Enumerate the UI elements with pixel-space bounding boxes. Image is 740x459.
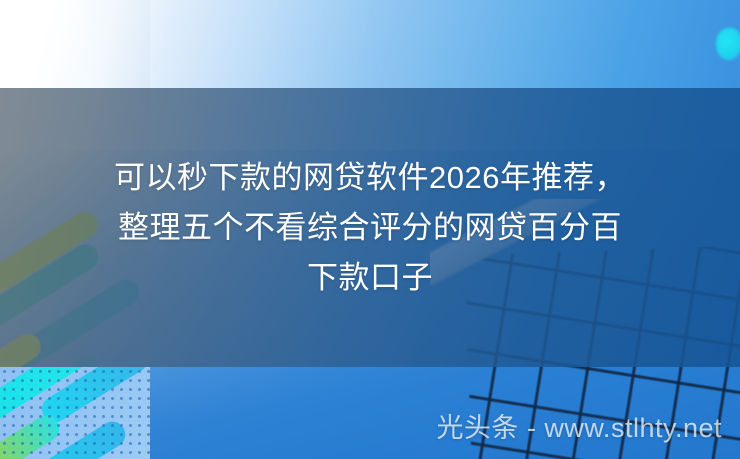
title-overlay-band: 可以秒下款的网贷软件2026年推荐， 整理五个不看综合评分的网贷百分百 下款口子 <box>0 88 740 367</box>
cover-title-text: 可以秒下款的网贷软件2026年推荐， 整理五个不看综合评分的网贷百分百 下款口子 <box>40 153 700 303</box>
cyan-blob-decoration <box>716 28 740 60</box>
cover-image-canvas: 可以秒下款的网贷软件2026年推荐， 整理五个不看综合评分的网贷百分百 下款口子… <box>0 0 740 459</box>
deco-bar-cyan-3 <box>0 411 64 459</box>
site-watermark: 光头条 - www.stlhty.net <box>436 406 722 445</box>
bottom-left-halftone-panel <box>0 367 150 459</box>
